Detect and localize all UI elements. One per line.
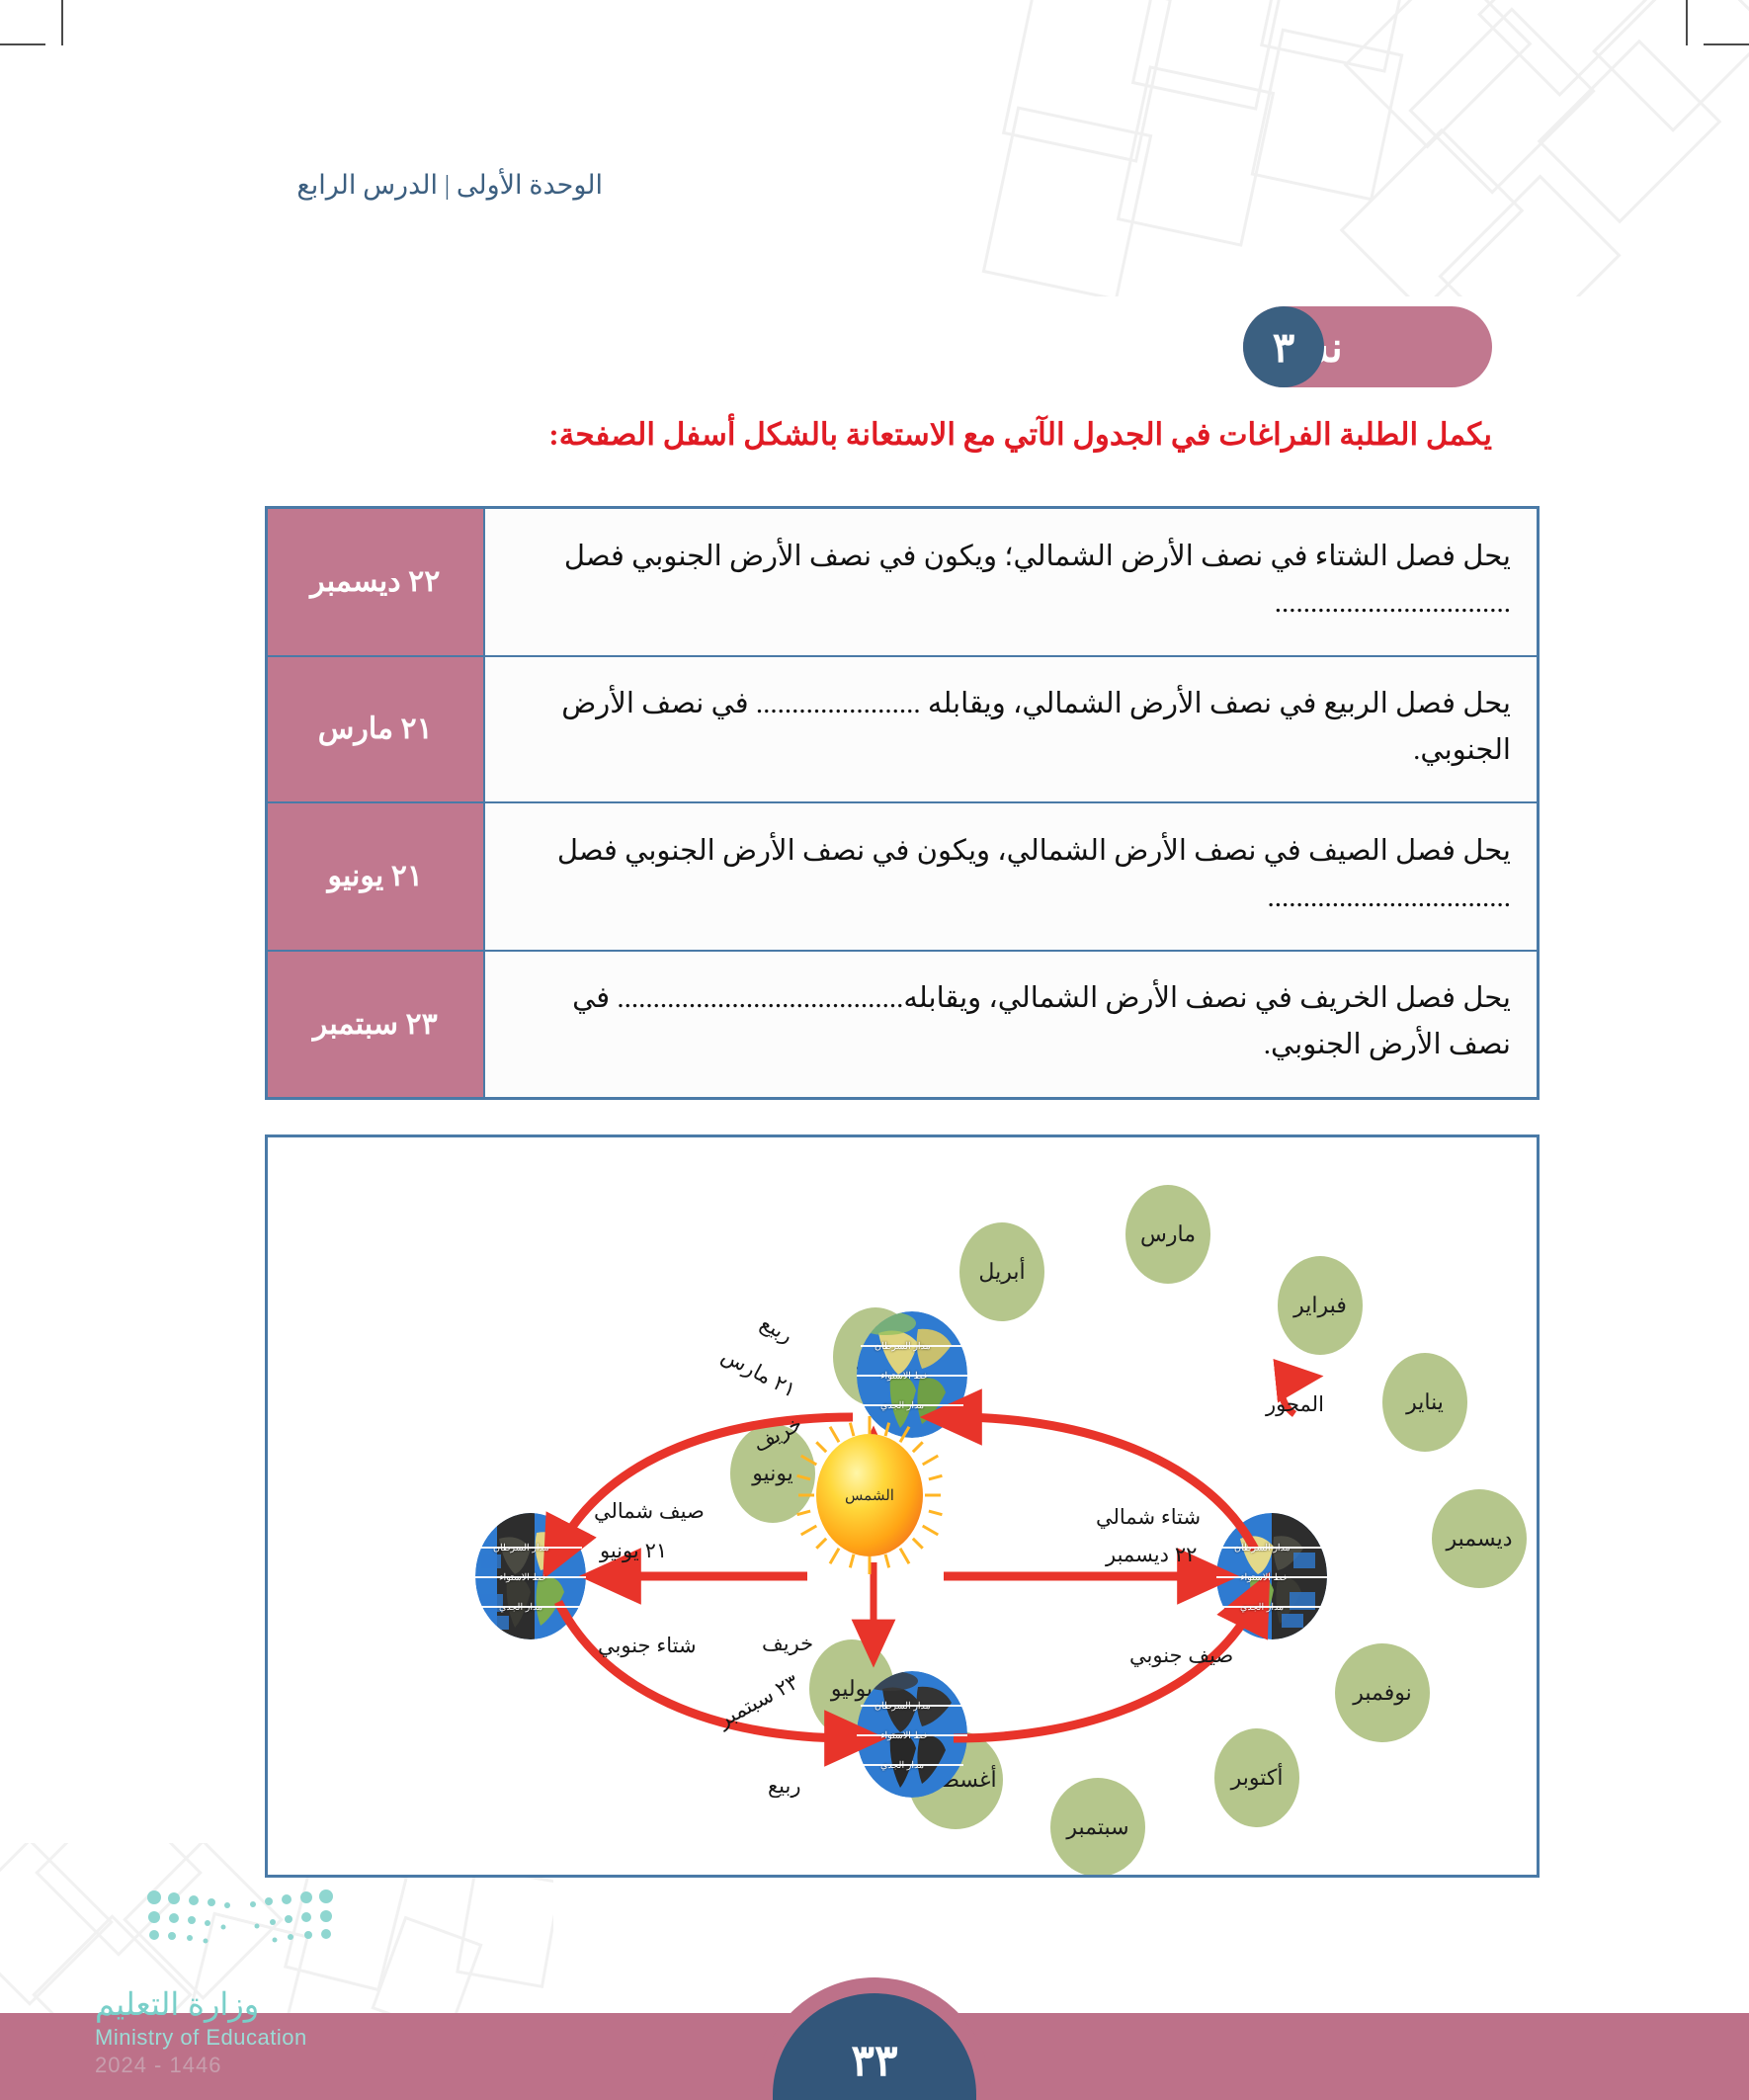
date-september: ٢٣ سبتمبر (713, 1670, 802, 1733)
month-bubble-april: أبريل (959, 1222, 1044, 1321)
season-south-december: صيف جنوبي (1129, 1643, 1233, 1668)
activity-number: ٣ (1273, 323, 1295, 372)
table-cell-date: ٢١ مارس (267, 656, 484, 802)
month-bubble-january: يناير (1382, 1353, 1467, 1452)
globe-sphere (857, 1671, 967, 1798)
table-cell-description: يحل فصل الشتاء في نصف الأرض الشمالي؛ ويك… (484, 508, 1539, 656)
table-cell-description: يحل فصل الصيف في نصف الأرض الشمالي، ويكو… (484, 802, 1539, 951)
date-june: ٢١ يونيو (600, 1539, 667, 1563)
decorative-pattern-top-right (978, 0, 1749, 296)
season-north-june: صيف شمالي (594, 1499, 705, 1524)
axis-label: المحور (1266, 1392, 1324, 1417)
globe-sphere (475, 1513, 586, 1639)
ministry-name-arabic: وزارة التعليم (95, 1985, 307, 2023)
earth-seasons-diagram: يناير فبراير مارس أبريل مايو يونيو يوليو… (265, 1134, 1540, 1878)
ministry-of-education-logo: وزارة التعليم Ministry of Education 2024… (95, 1985, 307, 2078)
season-south-june: شتاء جنوبي (598, 1634, 697, 1658)
ministry-name-english: Ministry of Education (95, 2025, 307, 2051)
page-number: ٣٣ (851, 2036, 897, 2086)
table-row: يحل فصل الشتاء في نصف الأرض الشمالي؛ ويك… (267, 508, 1539, 656)
sun-illustration: الشمس (816, 1434, 923, 1556)
globe-september: مدار السرطان خط الاستواء مدار الجدي (857, 1671, 967, 1798)
month-bubble-december: ديسمبر (1432, 1489, 1527, 1588)
table-cell-description: يحل فصل الخريف في نصف الأرض الشمالي، ويق… (484, 951, 1539, 1099)
month-bubble-september: سبتمبر (1050, 1778, 1145, 1877)
globe-sphere (1216, 1513, 1327, 1639)
crop-mark-top-left-vertical (61, 0, 63, 45)
running-head: الوحدة الأولى | الدرس الرابع (296, 170, 603, 201)
activity-badge: نشاط ٣ (1243, 306, 1492, 387)
crop-mark-top-right-vertical (1686, 0, 1688, 45)
season-north-december: شتاء شمالي (1096, 1505, 1201, 1530)
seasons-table: يحل فصل الشتاء في نصف الأرض الشمالي؛ ويك… (265, 506, 1540, 1100)
month-bubble-february: فبراير (1278, 1256, 1363, 1355)
date-march: ٢١ مارس (717, 1343, 800, 1402)
table-row: يحل فصل الربيع في نصف الأرض الشمالي، ويق… (267, 656, 1539, 802)
globe-december: مدار السرطان خط الاستواء مدار الجدي (1216, 1513, 1327, 1639)
ministry-logo-dots (146, 1888, 334, 1952)
table-row: يحل فصل الصيف في نصف الأرض الشمالي، ويكو… (267, 802, 1539, 951)
crop-mark-top-right-horizontal (1704, 43, 1749, 45)
month-bubble-october: أكتوبر (1214, 1728, 1299, 1827)
instruction-text: يكمل الطلبة الفراغات في الجدول الآتي مع … (252, 417, 1492, 453)
season-north-march: ربيع (756, 1311, 796, 1349)
table-cell-date: ٢١ يونيو (267, 802, 484, 951)
season-south-september: ربيع (768, 1774, 801, 1799)
season-north-september: خريف (762, 1632, 813, 1656)
table-cell-date: ٢٢ ديسمبر (267, 508, 484, 656)
table-cell-description: يحل فصل الربيع في نصف الأرض الشمالي، ويق… (484, 656, 1539, 802)
table-cell-date: ٢٣ سبتمبر (267, 951, 484, 1099)
month-bubble-march: مارس (1125, 1185, 1210, 1284)
ministry-year: 2024 - 1446 (95, 2053, 307, 2078)
month-bubble-november: نوفمبر (1335, 1643, 1430, 1742)
globe-june: مدار السرطان خط الاستواء مدار الجدي (475, 1513, 586, 1639)
activity-number-circle: ٣ (1243, 306, 1324, 387)
crop-mark-top-left-horizontal (0, 43, 45, 45)
sun-label: الشمس (816, 1434, 923, 1556)
date-december: ٢٢ ديسمبر (1106, 1543, 1197, 1567)
table-row: يحل فصل الخريف في نصف الأرض الشمالي، ويق… (267, 951, 1539, 1099)
